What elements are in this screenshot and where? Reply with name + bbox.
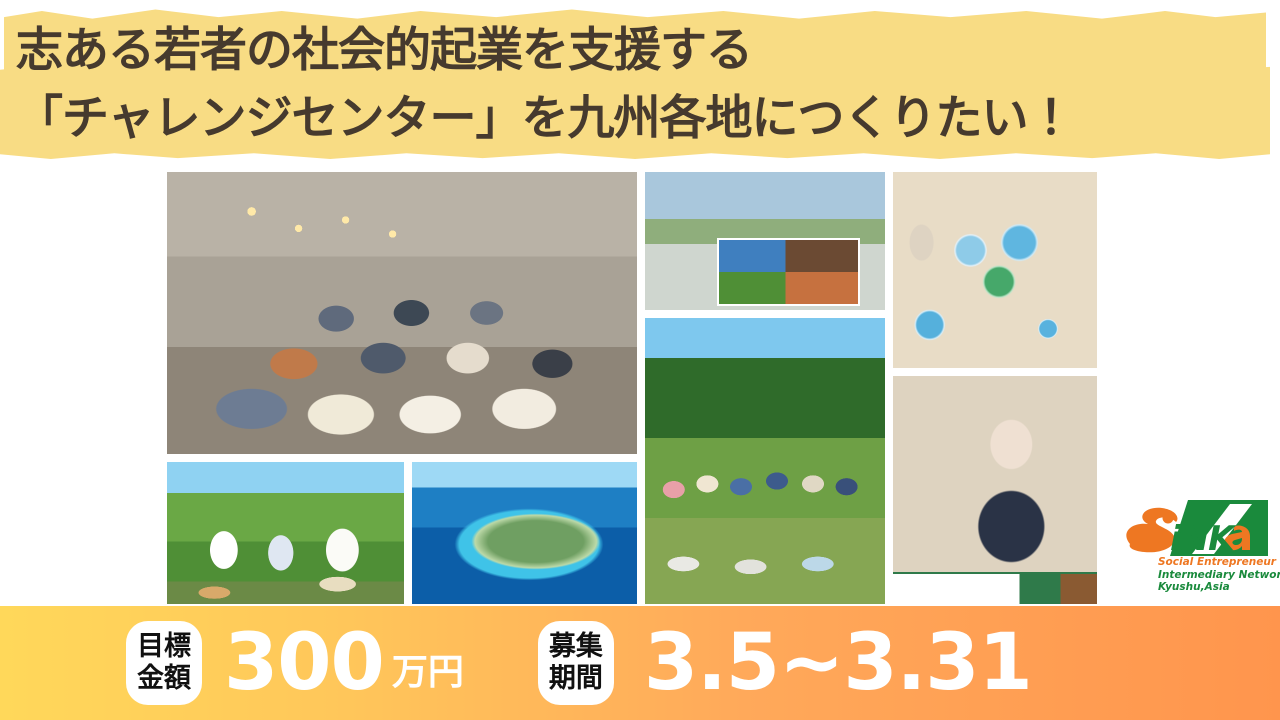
recycled-coaster-photo xyxy=(893,172,1097,368)
presentation-board-photo xyxy=(645,172,885,310)
campaign-info-bar: 目標 金額 300 万円 募集 期間 3.5~3.31 xyxy=(0,606,1280,720)
sinka-logo: iNK Social Entrepreneur Intermediary Net… xyxy=(1118,498,1274,598)
headline-area: 志ある若者の社会的起業を支援する 「チャレンジセンター」を九州各地につくりたい！ xyxy=(0,0,1280,170)
headline-line-1: 志ある若者の社会的起業を支援する xyxy=(16,17,1280,85)
goal-amount-group: 目標 金額 300 万円 xyxy=(126,621,464,705)
speaker-podium-photo xyxy=(893,376,1097,604)
logo-tagline-line-1: Social Entrepreneur xyxy=(1158,556,1280,569)
campaign-banner: 志ある若者の社会的起業を支援する 「チャレンジセンター」を九州各地につくりたい！… xyxy=(0,0,1280,720)
goal-amount-value: 300 xyxy=(224,624,384,702)
campaign-period-value: 3.5~3.31 xyxy=(644,624,1032,702)
logo-tagline-line-3: Kyushu,Asia xyxy=(1158,581,1280,594)
goal-amount-unit: 万円 xyxy=(392,653,464,693)
headline-text: 志ある若者の社会的起業を支援する 「チャレンジセンター」を九州各地につくりたい！ xyxy=(0,0,1280,170)
logo-tagline-line-2: Intermediary Network xyxy=(1158,569,1280,582)
farm-harvest-photo xyxy=(167,462,404,604)
campaign-period-badge: 募集 期間 xyxy=(538,621,614,705)
photo-collage xyxy=(167,172,1097,604)
svg-text:iNK: iNK xyxy=(1170,519,1237,558)
headline-line-2: 「チャレンジセンター」を九州各地につくりたい！ xyxy=(16,85,1280,153)
goal-amount-badge: 目標 金額 xyxy=(126,621,202,705)
tree-planting-photo xyxy=(645,318,885,604)
group-cafe-photo xyxy=(167,172,637,454)
sinka-logo-mark: iNK xyxy=(1118,498,1274,558)
goal-badge-line-1: 目標 xyxy=(137,631,191,663)
period-badge-line-2: 期間 xyxy=(549,663,603,695)
campaign-period-group: 募集 期間 3.5~3.31 xyxy=(538,621,1032,705)
goal-badge-line-2: 金額 xyxy=(137,663,191,695)
logo-tagline: Social Entrepreneur Intermediary Network… xyxy=(1158,556,1280,594)
period-badge-line-1: 募集 xyxy=(549,631,603,663)
island-aerial-photo xyxy=(412,462,637,604)
